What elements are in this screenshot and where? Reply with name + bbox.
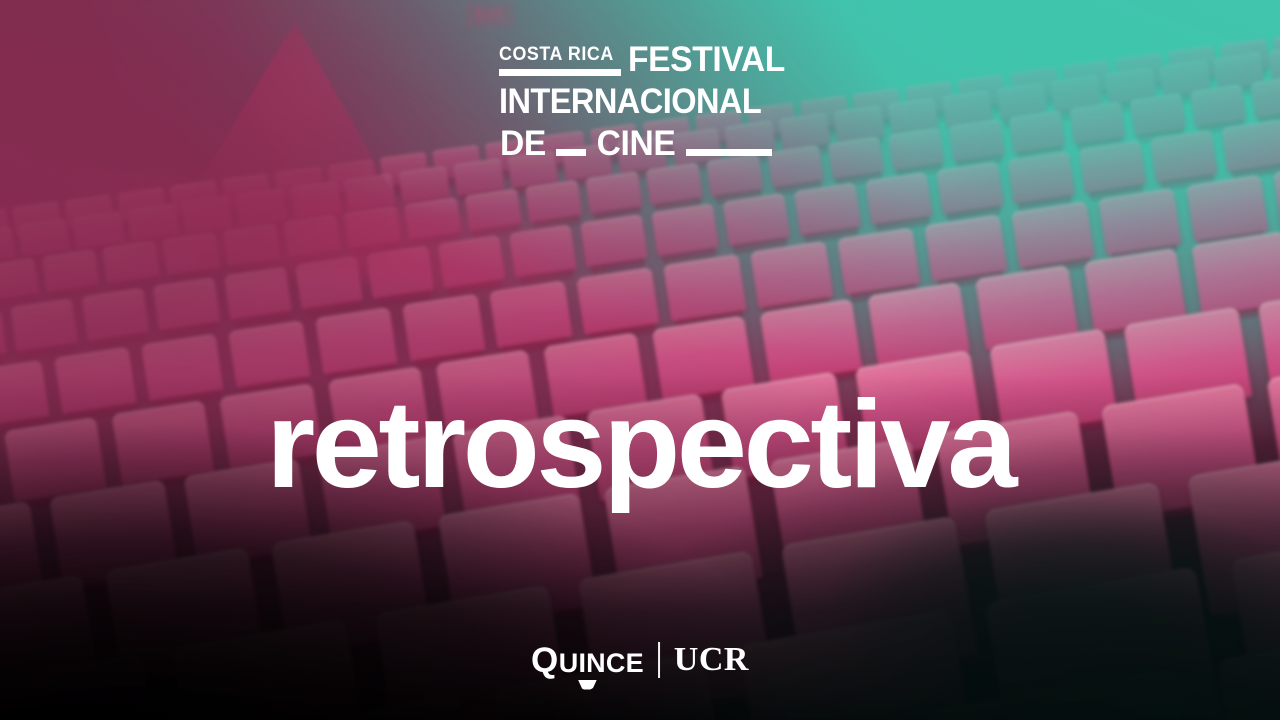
- quince-wordmark-rest: UINCE: [559, 650, 644, 677]
- microphone-icon: [578, 680, 597, 690]
- poster-canvas: EXIT COSTA RICA FESTIVAL INTERNACIONAL D…: [0, 0, 1280, 720]
- quince-ucr-lockup: Q UINCE UCR: [531, 642, 749, 678]
- quince-q-letter: Q: [531, 643, 558, 678]
- festival-logo: COSTA RICA FESTIVAL INTERNACIONAL DE CIN…: [499, 42, 781, 161]
- underline-bar-end: [686, 149, 772, 156]
- logo-divider: [658, 642, 660, 678]
- festival-logo-festival: FESTIVAL: [628, 42, 785, 77]
- underline-bar-costa-rica: [499, 69, 621, 76]
- costa-rica-block: COSTA RICA: [499, 45, 621, 77]
- page-title: retrospectiva: [0, 383, 1280, 507]
- festival-logo-cine: CINE: [596, 126, 675, 161]
- festival-logo-de: DE: [500, 126, 546, 161]
- poster-content: COSTA RICA FESTIVAL INTERNACIONAL DE CIN…: [0, 0, 1280, 720]
- festival-logo-line-1: COSTA RICA FESTIVAL: [499, 42, 781, 77]
- festival-logo-internacional: INTERNACIONAL: [499, 84, 761, 119]
- quince-wordmark: Q UINCE: [531, 643, 644, 678]
- festival-logo-costa-rica: COSTA RICA: [499, 45, 614, 64]
- underline-bar-middle: [556, 149, 586, 156]
- ucr-wordmark: UCR: [674, 643, 749, 677]
- festival-logo-line-3: DE CINE: [499, 126, 781, 161]
